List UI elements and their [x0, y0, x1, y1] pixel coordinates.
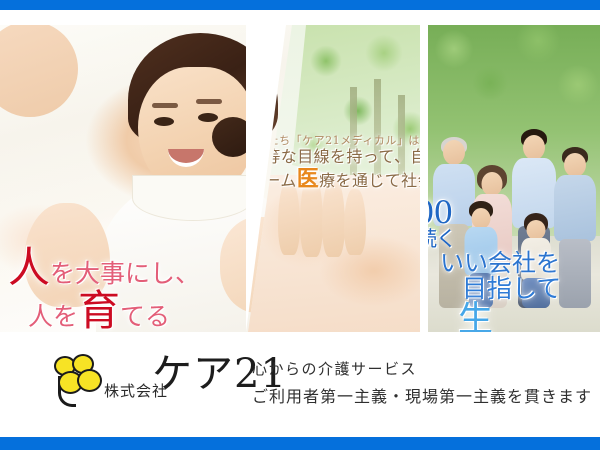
left-headline-kanji-iku: 育: [78, 286, 120, 332]
butterfly-clover-logo-icon: [50, 354, 102, 404]
hero-photo-band: 人を大事にし、 人を育てる 私たち「ケア21メディカル」は: [0, 25, 600, 332]
nurse-collar: [132, 175, 254, 221]
tagline-line-2: ご利用者第一主義・現場第一主義を貫きます: [252, 383, 592, 407]
left-headline: 人を大事にし、 人を育てる: [8, 247, 200, 332]
right-headline-number: 100: [428, 197, 561, 229]
mother-head: [482, 172, 503, 196]
logo-petal-bottom-right: [77, 369, 102, 392]
left-headline-line-2-c: てる: [120, 302, 170, 331]
right-headline-line-4: 生きます: [428, 302, 561, 332]
left-headline-line-2-a: 人: [28, 302, 53, 331]
bottom-blue-rule: [0, 437, 600, 450]
middle-headline-line-3: チーム医療を通じて社会貢献します。: [248, 167, 428, 193]
left-headline-line-1-rest: を大事にし、: [50, 259, 200, 288]
left-headline-kanji-hito: 人: [8, 243, 50, 292]
right-headline-line-1: 100年続く: [428, 197, 561, 251]
left-headline-line-2-b: を: [53, 302, 78, 331]
middle-headline-line-3-post: 療を通じて社会貢献します。: [319, 171, 428, 190]
middle-headline-line-2: 平等な目線を持って、自由で自律した: [248, 148, 428, 167]
top-blue-rule: [0, 0, 600, 10]
right-headline-line-3: 目指して: [428, 276, 561, 302]
grandmother-skirt: [559, 239, 591, 308]
middle-headline: 私たち「ケア21メディカル」は 平等な目線を持って、自由で自律した チーム医療を…: [248, 135, 428, 193]
nurse-eye-right: [198, 113, 218, 122]
footer: 株式会社 ケア21 心からの介護サービス ご利用者第一主義・現場第一主義を貫きま…: [0, 340, 600, 435]
right-photo-family: 100年続く いい会社を 目指して 生きます: [428, 25, 600, 332]
right-headline-line-2: いい会社を: [428, 251, 561, 276]
right-headline-kanji-sei: 生: [458, 302, 561, 332]
banner-page: 人を大事にし、 人を育てる 私たち「ケア21メディカル」は: [0, 0, 600, 450]
left-headline-line-2: 人を育てる: [8, 290, 200, 332]
finger-4: [344, 189, 366, 255]
grandmother-head: [564, 153, 586, 177]
father-head: [523, 135, 545, 160]
tagline: 心からの介護サービス ご利用者第一主義・現場第一主義を貫きます: [252, 358, 592, 407]
tagline-line-1: 心からの介護サービス: [252, 358, 592, 379]
right-headline: 100年続く いい会社を 目指して 生きます: [428, 197, 561, 332]
background-person: [0, 25, 78, 117]
left-headline-line-1: 人を大事にし、: [8, 247, 200, 290]
nurse-eyebrow-right: [196, 99, 222, 104]
grandfather-head: [443, 140, 465, 165]
middle-headline-kanji-i: 医: [297, 166, 319, 192]
nurse-eye-left: [154, 117, 174, 126]
nurse-eyebrow-left: [152, 103, 178, 108]
clasped-hands: [248, 175, 428, 332]
right-headline-line-1-rest: 年続く: [428, 229, 561, 251]
